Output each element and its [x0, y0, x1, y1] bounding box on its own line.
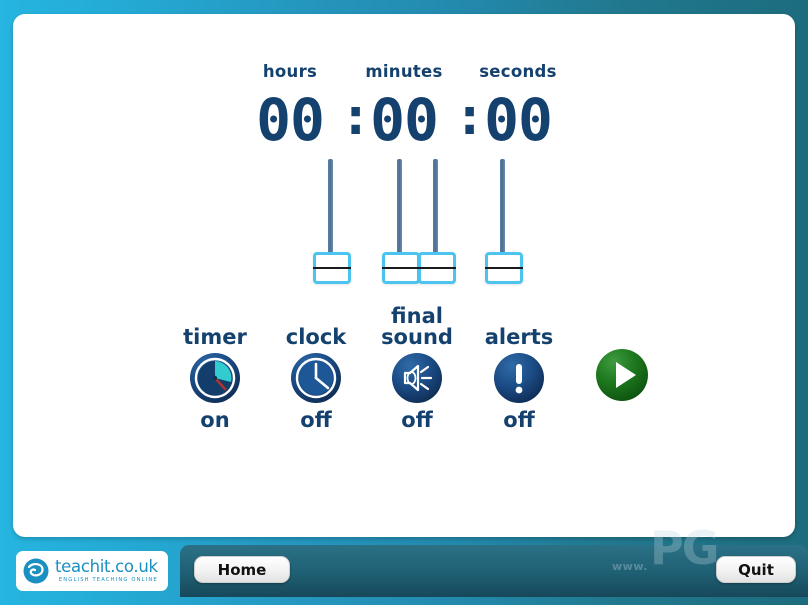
- hours-slider-track[interactable]: [328, 159, 333, 261]
- unit-label-hours: hours: [248, 62, 332, 81]
- control-final-sound-caption: final sound: [362, 306, 472, 348]
- minutes-units-slider[interactable]: [418, 159, 456, 284]
- control-clock-caption: clock: [261, 306, 371, 348]
- teachit-logo-text: teachit.co.uk ENGLISH TEACHING ONLINE: [55, 559, 158, 583]
- hours-slider[interactable]: [313, 159, 351, 284]
- hours-digits: 00: [240, 86, 340, 154]
- slider-group: [13, 159, 795, 284]
- minutes-units-slider-thumb[interactable]: [418, 252, 456, 284]
- minutes-tens-slider-thumb[interactable]: [382, 252, 420, 284]
- control-timer-label-1: timer: [183, 327, 247, 348]
- minutes-units-slider-track[interactable]: [433, 159, 438, 261]
- control-toggle-row: timer: [13, 306, 795, 436]
- seconds-slider-track[interactable]: [500, 159, 505, 261]
- unit-label-seconds: seconds: [476, 62, 560, 81]
- minutes-tens-slider[interactable]: [382, 159, 420, 284]
- control-clock-label-1: clock: [286, 327, 347, 348]
- quit-button[interactable]: Quit: [716, 556, 796, 583]
- play-triangle-icon[interactable]: [595, 348, 649, 402]
- hours-slider-thumb[interactable]: [313, 252, 351, 284]
- control-timer-state: on: [160, 408, 270, 432]
- control-alerts-state: off: [464, 408, 574, 432]
- control-final-sound-button[interactable]: [391, 352, 443, 404]
- separator-1: :: [340, 87, 354, 147]
- control-clock-state: off: [261, 408, 371, 432]
- control-final-sound-label-1: final: [391, 306, 443, 327]
- separator-2: :: [454, 87, 468, 147]
- minutes-tens-slider-track[interactable]: [397, 159, 402, 261]
- unit-label-minutes: minutes: [362, 62, 446, 81]
- speaker-icon[interactable]: [391, 352, 443, 404]
- main-stage-panel: hours minutes seconds 00 : 00 : 00: [13, 14, 795, 537]
- play-button[interactable]: [595, 348, 649, 402]
- clock-icon[interactable]: [290, 352, 342, 404]
- teachit-swirl-icon: [23, 558, 49, 584]
- seconds-slider[interactable]: [485, 159, 523, 284]
- teachit-logo-title: teachit.co.uk: [55, 559, 158, 576]
- unit-label-row: hours minutes seconds: [13, 62, 795, 81]
- control-alerts-label-1: alerts: [485, 327, 554, 348]
- timer-application: hours minutes seconds 00 : 00 : 00: [0, 0, 808, 605]
- control-alerts[interactable]: alerts: [464, 306, 574, 432]
- control-clock-button[interactable]: [290, 352, 342, 404]
- control-timer-button[interactable]: [189, 352, 241, 404]
- control-final-sound-label-2: sound: [381, 327, 453, 348]
- teachit-logo-tagline: ENGLISH TEACHING ONLINE: [55, 578, 158, 583]
- seconds-slider-thumb[interactable]: [485, 252, 523, 284]
- exclamation-icon[interactable]: [493, 352, 545, 404]
- control-timer[interactable]: timer: [160, 306, 270, 432]
- control-timer-caption: timer: [160, 306, 270, 348]
- watermark-small-text: www.: [612, 560, 648, 573]
- time-readout: 00 : 00 : 00: [13, 86, 795, 154]
- home-button[interactable]: Home: [194, 556, 290, 583]
- control-alerts-caption: alerts: [464, 306, 574, 348]
- stopwatch-icon[interactable]: [189, 352, 241, 404]
- control-final-sound-state: off: [362, 408, 472, 432]
- footer-navbar: PG www. Home Quit: [180, 545, 808, 597]
- control-clock[interactable]: clock: [261, 306, 371, 432]
- teachit-logo[interactable]: teachit.co.uk ENGLISH TEACHING ONLINE: [16, 551, 168, 591]
- control-alerts-button[interactable]: [493, 352, 545, 404]
- control-final-sound[interactable]: final sound: [362, 306, 472, 432]
- footer-bar: teachit.co.uk ENGLISH TEACHING ONLINE PG…: [0, 543, 808, 605]
